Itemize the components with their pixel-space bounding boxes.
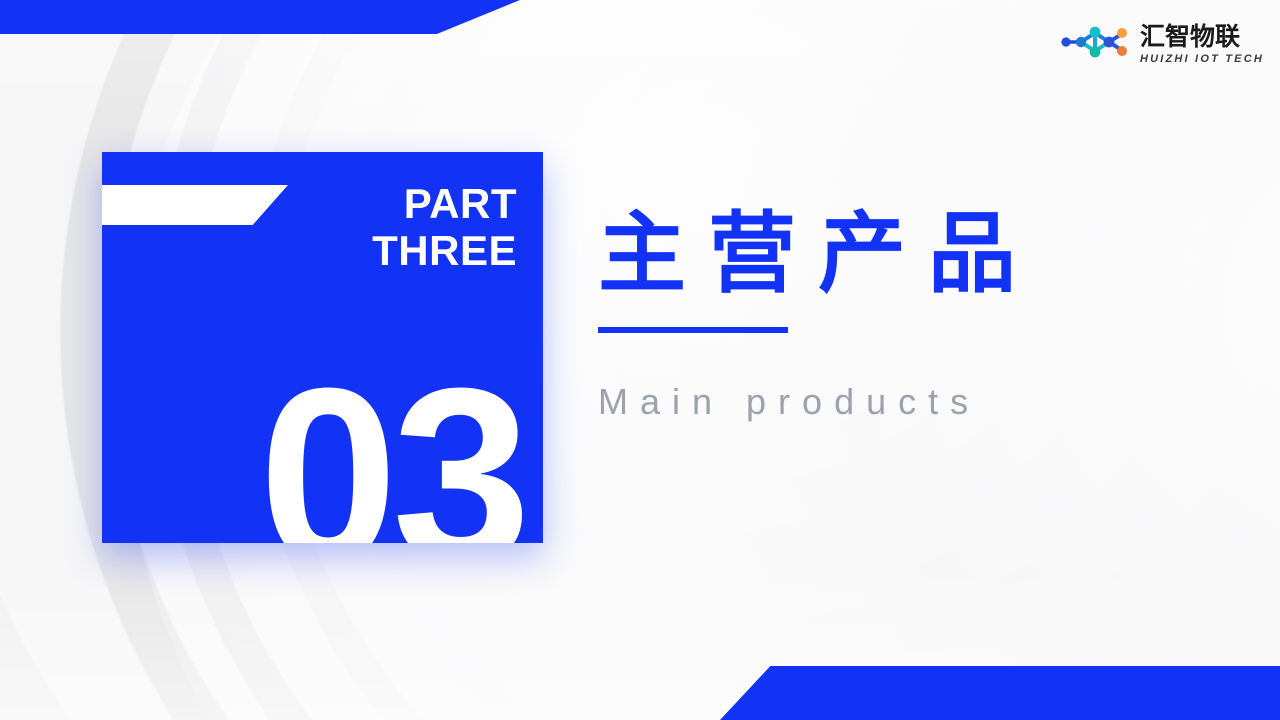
title-divider-rule: [598, 327, 788, 333]
molecule-network-icon: [1058, 22, 1132, 67]
accent-bar-bottom-right: [720, 666, 1280, 720]
logo-text-group: 汇智物联 HUIZHI IOT TECH: [1140, 25, 1264, 65]
page-title: 主营产品: [598, 206, 1218, 301]
slide-root: PART THREE 03 主营产品 Main products: [0, 0, 1280, 720]
logo-company-name-en: HUIZHI IOT TECH: [1140, 54, 1264, 65]
company-logo: 汇智物联 HUIZHI IOT TECH: [1058, 22, 1264, 67]
part-label-line-2: THREE: [257, 227, 517, 274]
accent-bar-top-left: [0, 0, 520, 34]
logo-company-name-cn: 汇智物联: [1140, 25, 1264, 50]
part-label-line-1: PART: [257, 180, 517, 227]
section-number-card: PART THREE 03: [102, 152, 543, 543]
headline-block: 主营产品 Main products: [598, 206, 1218, 423]
part-label: PART THREE: [257, 180, 517, 275]
section-number: 03: [259, 351, 525, 543]
page-subtitle: Main products: [598, 381, 1218, 423]
